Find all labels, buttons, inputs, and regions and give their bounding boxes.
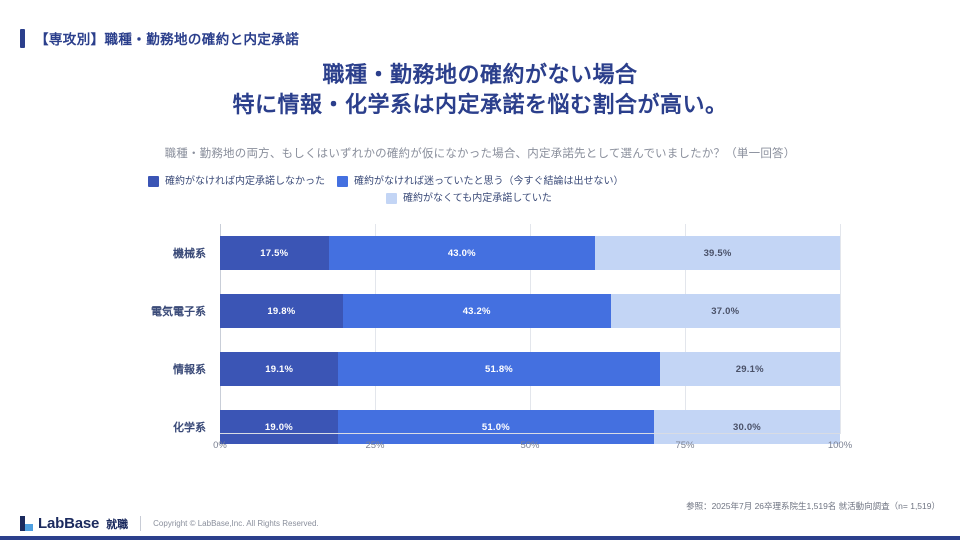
- bar-segment-0[interactable]: 17.5%: [220, 236, 329, 270]
- bar-segment-1[interactable]: 43.2%: [343, 294, 611, 328]
- slide: 【専攻別】職種・勤務地の確約と内定承諾 職種・勤務地の確約がない場合 特に情報・…: [0, 0, 960, 540]
- x-tick-label-100: 100%: [828, 440, 852, 451]
- x-tick-label-75: 75%: [675, 440, 694, 451]
- bar-value-label: 51.0%: [482, 422, 510, 433]
- category-label-3: 化学系: [173, 410, 206, 444]
- bar-segment-2[interactable]: 37.0%: [611, 294, 840, 328]
- gridline-100: [840, 224, 841, 434]
- legend-item-0[interactable]: 確約がなければ内定承諾しなかった: [148, 176, 325, 187]
- header-accent-bar: [20, 29, 25, 48]
- stacked-bar: 19.1%51.8%29.1%: [220, 352, 840, 386]
- legend-row-1: 確約がなければ内定承諾しなかった 確約がなければ迷っていたと思う（今すぐ結論は出…: [148, 176, 840, 193]
- bar-value-label: 19.0%: [265, 422, 293, 433]
- slide-footer: LabBase 就職 Copyright © LabBase,Inc. All …: [0, 508, 960, 540]
- bar-value-label: 43.0%: [448, 248, 476, 259]
- x-tick-label-50: 50%: [520, 440, 539, 451]
- page-title: 職種・勤務地の確約がない場合 特に情報・化学系は内定承諾を悩む割合が高い。: [0, 60, 960, 121]
- survey-question: 職種・勤務地の両方、もしくはいずれかの確約が仮になかった場合、内定承諾先として選…: [0, 145, 960, 161]
- x-axis: 0%25%50%75%100%: [220, 436, 840, 456]
- chart-panel: 確約がなければ内定承諾しなかった 確約がなければ迷っていたと思う（今すぐ結論は出…: [140, 176, 840, 486]
- category-label-0: 機械系: [173, 236, 206, 270]
- axis-baseline: [220, 433, 840, 434]
- bar-segment-1[interactable]: 51.8%: [338, 352, 659, 386]
- bar-segment-2[interactable]: 39.5%: [595, 236, 840, 270]
- stacked-bar: 19.8%43.2%37.0%: [220, 294, 840, 328]
- legend-item-1[interactable]: 確約がなければ迷っていたと思う（今すぐ結論は出せない）: [337, 176, 624, 187]
- bar-value-label: 30.0%: [733, 422, 761, 433]
- category-label-1: 電気電子系: [151, 294, 206, 328]
- legend-swatch-icon-1: [337, 176, 348, 187]
- legend-label-1: 確約がなければ迷っていたと思う（今すぐ結論は出せない）: [354, 176, 624, 187]
- logo-text: LabBase: [38, 515, 99, 532]
- bar-value-label: 37.0%: [711, 306, 739, 317]
- footer-left: LabBase 就職 Copyright © LabBase,Inc. All …: [20, 515, 319, 532]
- bar-value-label: 19.8%: [267, 306, 295, 317]
- bar-value-label: 17.5%: [260, 248, 288, 259]
- bar-value-label: 43.2%: [463, 306, 491, 317]
- stacked-bar: 17.5%43.0%39.5%: [220, 236, 840, 270]
- labbase-logo[interactable]: LabBase 就職: [20, 515, 128, 532]
- legend-label-0: 確約がなければ内定承諾しなかった: [165, 176, 325, 187]
- logo-subtext: 就職: [106, 516, 128, 532]
- x-tick-label-0: 0%: [213, 440, 227, 451]
- bar-row: 機械系17.5%43.0%39.5%: [220, 236, 840, 270]
- page-title-line-1: 職種・勤務地の確約がない場合: [0, 60, 960, 90]
- page-title-line-2: 特に情報・化学系は内定承諾を悩む割合が高い。: [0, 90, 960, 120]
- bar-segment-2[interactable]: 29.1%: [660, 352, 840, 386]
- bar-value-label: 39.5%: [704, 248, 732, 259]
- chart-plot: 機械系17.5%43.0%39.5%電気電子系19.8%43.2%37.0%情報…: [140, 224, 840, 456]
- bar-value-label: 29.1%: [736, 364, 764, 375]
- bar-value-label: 19.1%: [265, 364, 293, 375]
- labbase-logo-icon: [20, 516, 33, 531]
- plot-area: 機械系17.5%43.0%39.5%電気電子系19.8%43.2%37.0%情報…: [220, 224, 840, 434]
- header-title: 【専攻別】職種・勤務地の確約と内定承諾: [35, 28, 299, 48]
- bar-segment-0[interactable]: 19.1%: [220, 352, 338, 386]
- x-tick-label-25: 25%: [365, 440, 384, 451]
- bar-rows: 機械系17.5%43.0%39.5%電気電子系19.8%43.2%37.0%情報…: [220, 224, 840, 434]
- bar-row: 情報系19.1%51.8%29.1%: [220, 352, 840, 386]
- footer-divider: [140, 516, 141, 531]
- chart-legend: 確約がなければ内定承諾しなかった 確約がなければ迷っていたと思う（今すぐ結論は出…: [140, 176, 840, 212]
- category-label-2: 情報系: [173, 352, 206, 386]
- legend-swatch-icon-2: [386, 193, 397, 204]
- bar-value-label: 51.8%: [485, 364, 513, 375]
- footer-rule: [0, 536, 960, 540]
- bar-segment-1[interactable]: 43.0%: [329, 236, 596, 270]
- slide-header: 【専攻別】職種・勤務地の確約と内定承諾: [20, 28, 299, 48]
- legend-swatch-icon-0: [148, 176, 159, 187]
- bar-segment-0[interactable]: 19.8%: [220, 294, 343, 328]
- legend-row-2: 確約がなくても内定承諾していた: [148, 193, 840, 210]
- legend-label-2: 確約がなくても内定承諾していた: [403, 193, 552, 204]
- bar-row: 電気電子系19.8%43.2%37.0%: [220, 294, 840, 328]
- legend-item-2[interactable]: 確約がなくても内定承諾していた: [386, 193, 552, 204]
- copyright-text: Copyright © LabBase,Inc. All Rights Rese…: [153, 519, 319, 528]
